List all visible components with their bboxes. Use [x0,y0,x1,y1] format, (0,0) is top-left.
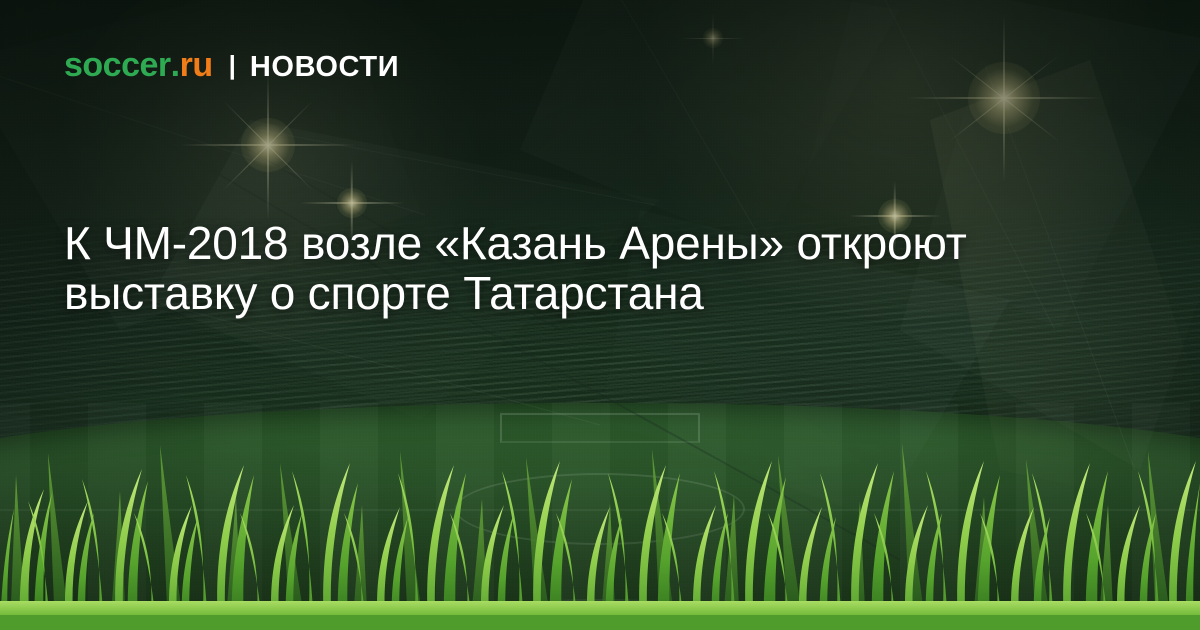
section-label-news: НОВОСТИ [250,53,399,82]
logo-separator: | [229,50,236,81]
news-share-card: soccer . ru | НОВОСТИ К ЧМ-2018 возле «К… [0,0,1200,630]
logo-text-dot: . [171,48,180,82]
site-logo[interactable]: soccer . ru | НОВОСТИ [64,48,399,83]
logo-text-soccer: soccer [64,48,171,82]
logo-text-ru: ru [180,48,213,82]
article-headline: К ЧМ-2018 возле «Казань Арены» откроют в… [64,218,1064,318]
